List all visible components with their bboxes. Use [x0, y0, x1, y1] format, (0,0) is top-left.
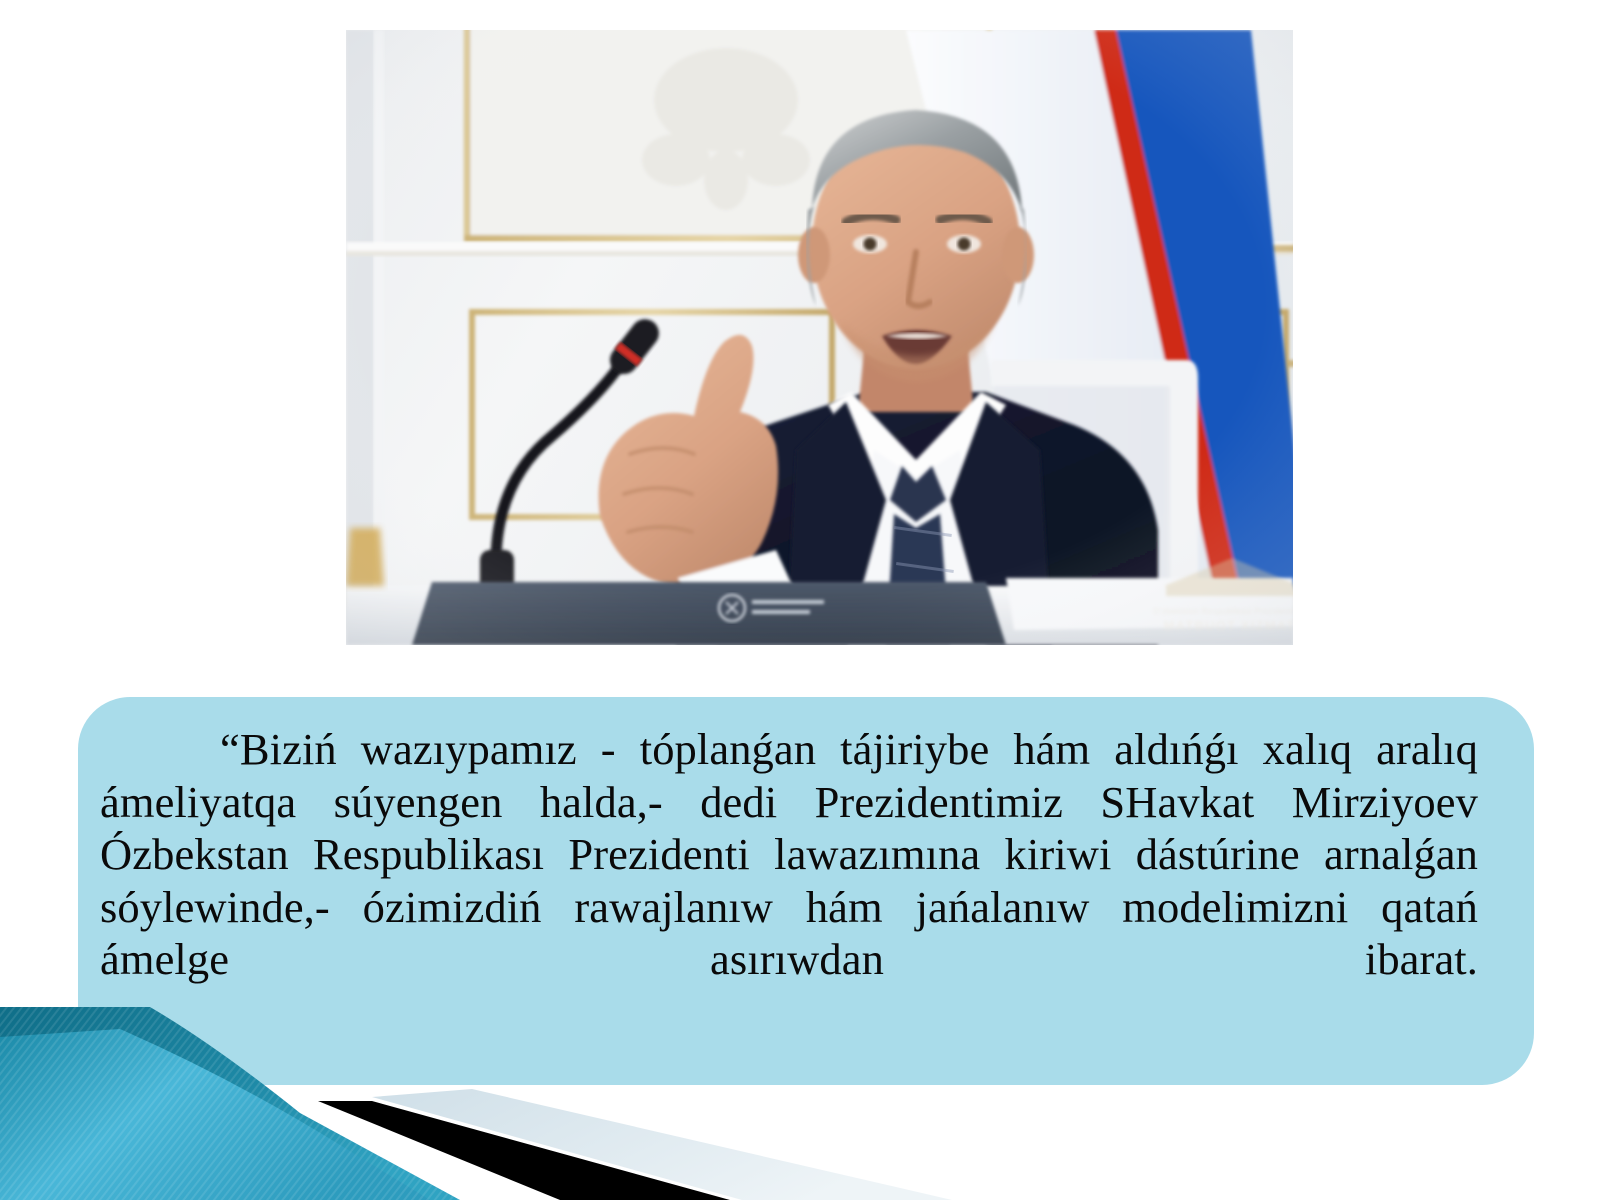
- quote-callout-box: “Biziń wazıypamız - tóplanǵan tájiriybe …: [78, 697, 1534, 1085]
- slide-canvas: O'zbekiston Respublikasi Prezidentining …: [0, 0, 1600, 1200]
- president-photo: O'zbekiston Respublikasi Prezidentining …: [346, 30, 1293, 645]
- photo-illustration: O'zbekiston Respublikasi Prezidentining …: [346, 30, 1293, 645]
- quote-text: “Biziń wazıypamız - tóplanǵan tájiriybe …: [100, 723, 1478, 1038]
